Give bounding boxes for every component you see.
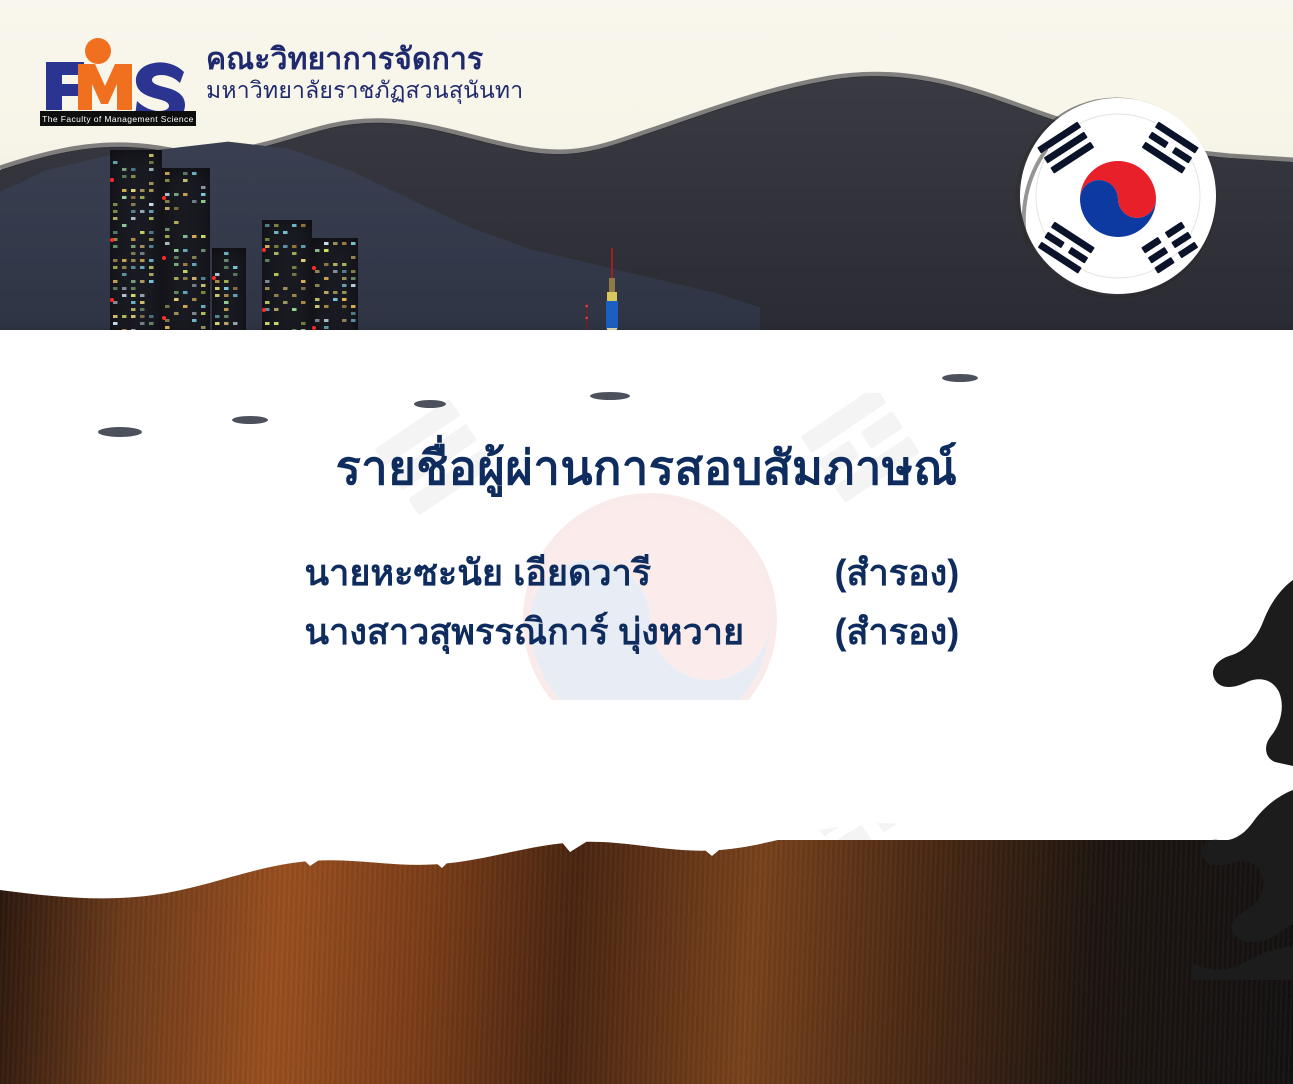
korea-flag-badge bbox=[1012, 92, 1224, 304]
page-title: รายชื่อผู้ผ่านการสอบสัมภาษณ์ bbox=[0, 440, 1293, 496]
name-list: นายหะซะนัย เอียดวารี (สำรอง) นางสาวสุพรร… bbox=[0, 550, 1293, 654]
faculty-name-th: คณะวิทยาการจัดการ bbox=[206, 44, 523, 76]
announcement-content: รายชื่อผู้ผ่านการสอบสัมภาษณ์ นายหะซะนัย … bbox=[0, 440, 1293, 654]
fms-logo: The Faculty of Management Science คณะวิท… bbox=[38, 38, 523, 126]
fms-tagline-text: The Faculty of Management Science bbox=[42, 114, 194, 124]
university-name-th: มหาวิทยาลัยราชภัฏสวนสุนันทา bbox=[206, 78, 523, 102]
candidate-name: นายหะซะนัย เอียดวารี bbox=[297, 550, 835, 595]
fms-logo-text: คณะวิทยาการจัดการ มหาวิทยาลัยราชภัฏสวนสุ… bbox=[206, 38, 523, 102]
status-badge: (สำรอง) bbox=[835, 609, 997, 654]
list-item: นายหะซะนัย เอียดวารี (สำรอง) bbox=[297, 550, 997, 595]
fms-tagline-bar: The Faculty of Management Science bbox=[40, 111, 196, 126]
fms-head-circle bbox=[85, 38, 111, 64]
fms-logo-mark: The Faculty of Management Science bbox=[38, 38, 196, 126]
status-badge: (สำรอง) bbox=[835, 550, 997, 595]
poster-canvas: The Faculty of Management Science คณะวิท… bbox=[0, 0, 1293, 1084]
candidate-name: นางสาวสุพรรณิการ์ บุ่งหวาย bbox=[297, 609, 835, 654]
list-item: นางสาวสุพรรณิการ์ บุ่งหวาย (สำรอง) bbox=[297, 609, 997, 654]
